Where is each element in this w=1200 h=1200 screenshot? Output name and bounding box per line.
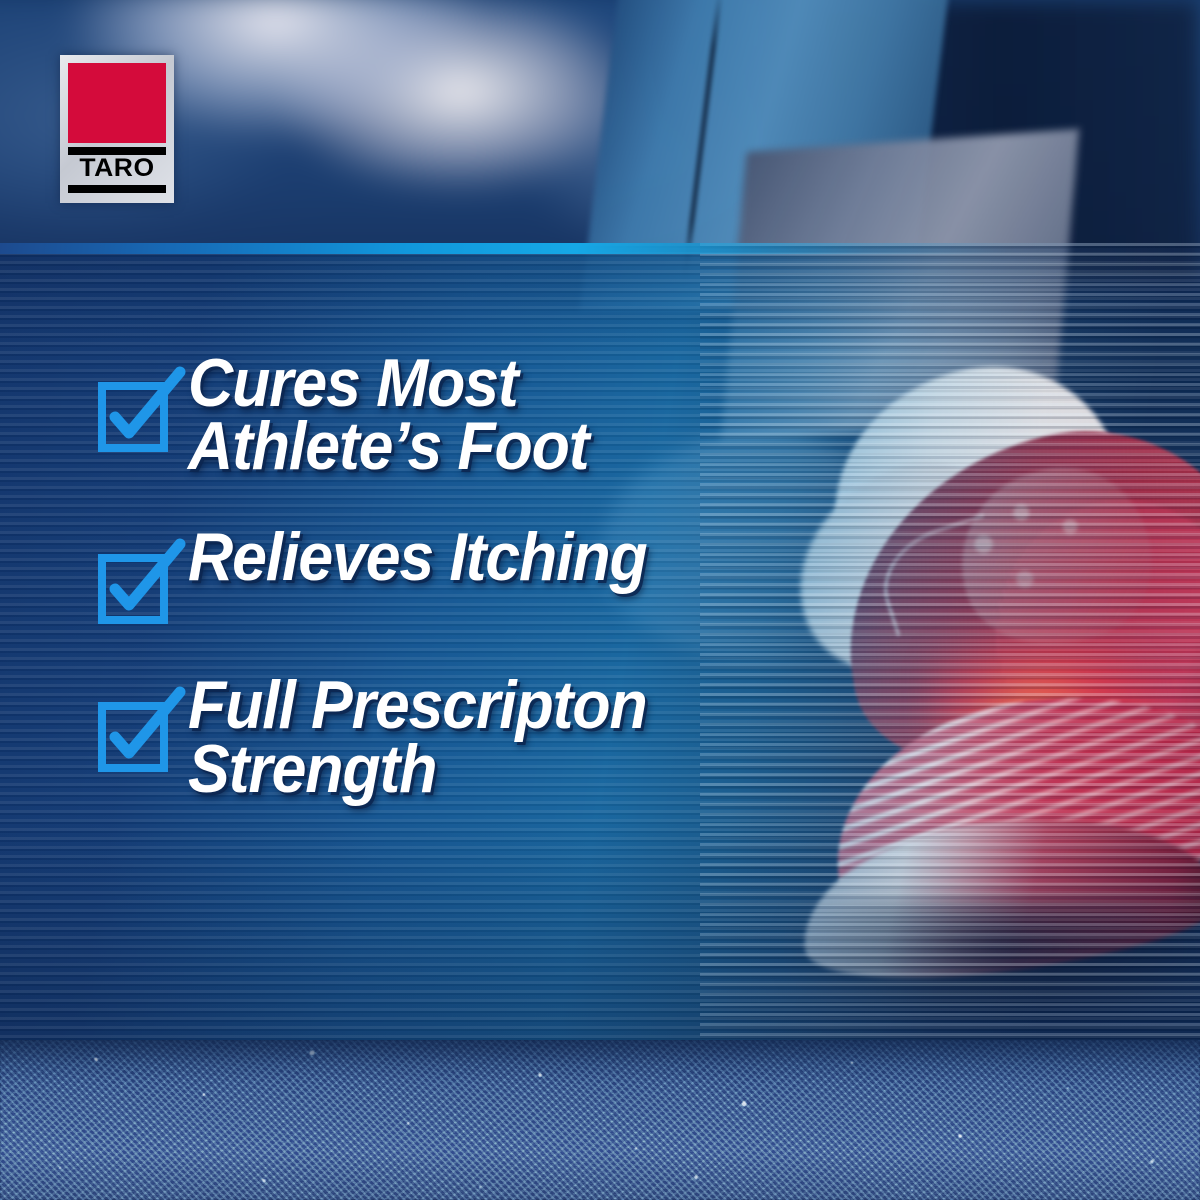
logo-bar-bottom xyxy=(68,185,166,193)
claims-list: Cures Most Athlete’s Foot Relieves Itchi… xyxy=(96,352,816,801)
ground-top-shading xyxy=(0,1040,1200,1082)
logo-red-square xyxy=(68,63,166,143)
checkbox-checked-icon xyxy=(96,540,188,626)
product-banner: TARO Cures Most Athlete’s Foot Relieves … xyxy=(0,0,1200,1200)
checkbox-checked-icon xyxy=(96,688,188,774)
claim-text: Relieves Itching xyxy=(188,526,647,589)
checkbox-checked-icon xyxy=(96,368,188,454)
claim-text: Full Prescripton Strength xyxy=(188,674,647,800)
taro-logo[interactable]: TARO xyxy=(60,55,174,203)
panel-accent-topline xyxy=(0,243,1200,254)
logo-wordmark: TARO xyxy=(65,155,169,182)
list-item: Full Prescripton Strength xyxy=(96,672,816,800)
list-item: Cures Most Athlete’s Foot xyxy=(96,352,816,478)
list-item: Relieves Itching xyxy=(96,524,816,626)
claim-text: Cures Most Athlete’s Foot xyxy=(188,352,588,478)
